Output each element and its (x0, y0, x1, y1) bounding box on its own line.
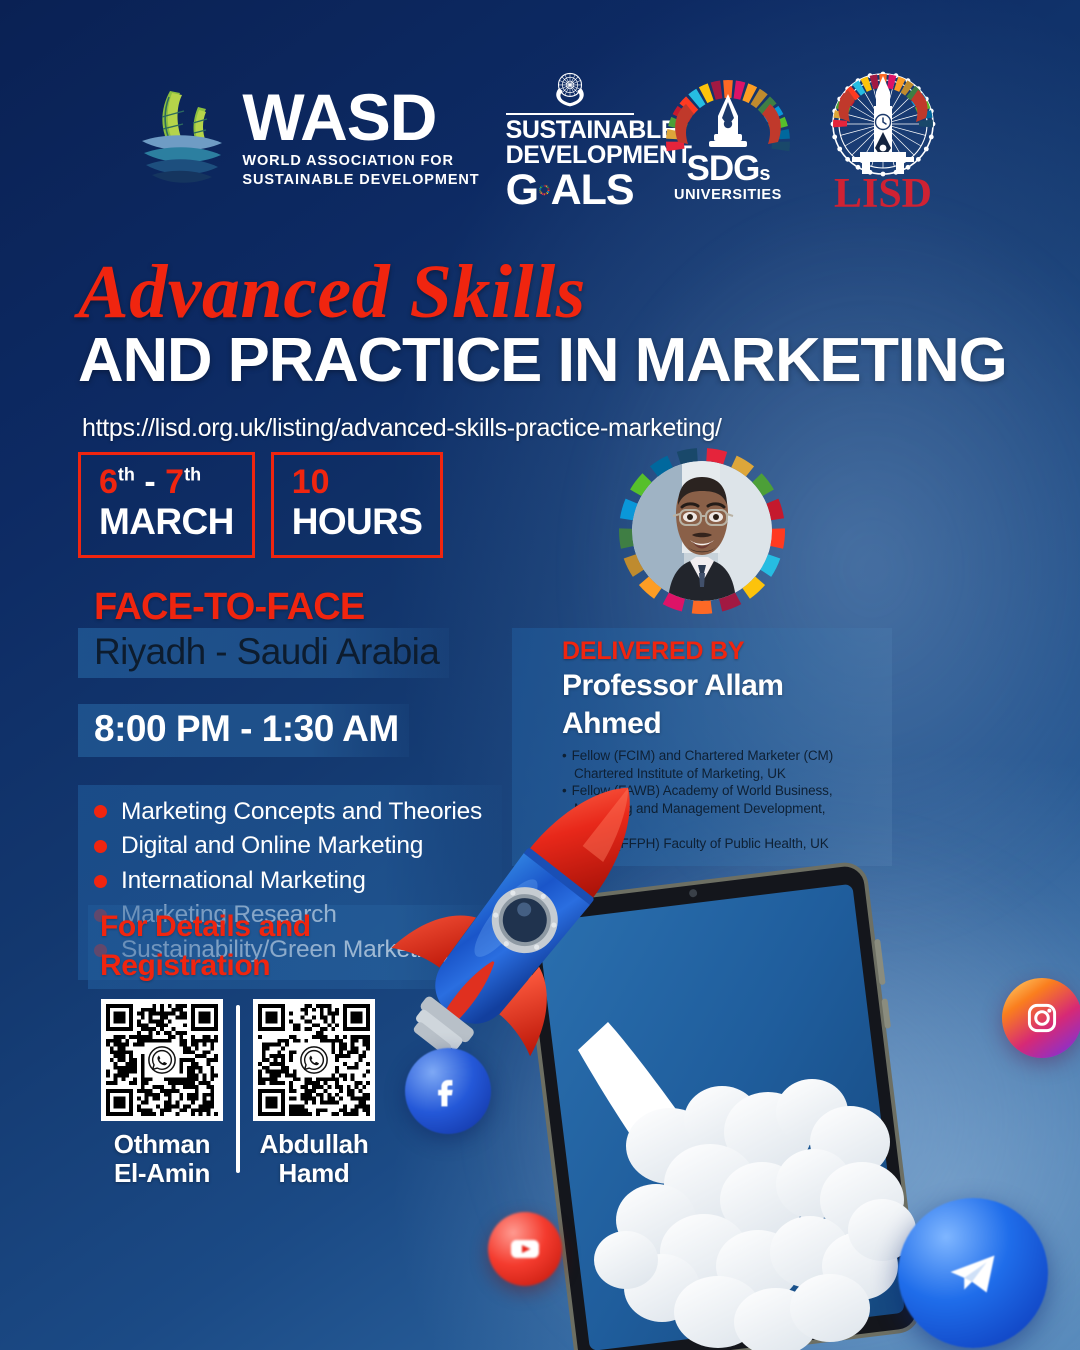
date-day-from-suffix: th (118, 465, 135, 485)
event-time: 8:00 PM - 1:30 AM (78, 704, 409, 756)
title-main-line: AND PRACTICE IN MARKETING (78, 330, 1016, 392)
sdg-goals-post: ALS (551, 169, 634, 212)
whatsapp-icon (145, 1043, 179, 1077)
date-day-to: 7 (165, 463, 184, 501)
svg-text:SDGs: SDGs (686, 149, 770, 188)
delivered-by-label: DELIVERED BY (562, 636, 876, 666)
instagram-icon (1002, 978, 1080, 1058)
sdgs-universities-logo: SDGs UNIVERSITIES (660, 68, 796, 208)
sustainable-development-goals-logo: SUSTAINABLE DEVELOPMENT G ["#e5243b","#d… (506, 65, 634, 212)
sdg-ring-icon (619, 448, 785, 614)
whatsapp-icon (297, 1043, 331, 1077)
avatar (619, 448, 785, 614)
bullet-dot-icon (94, 875, 107, 888)
sdgs-universities-pen-icon: SDGs UNIVERSITIES (660, 68, 796, 208)
logo-bar: WASD WORLD ASSOCIATION FOR SUSTAINABLE D… (0, 62, 1080, 214)
title-block: Advanced Skills AND PRACTICE IN MARKETIN… (78, 258, 998, 443)
date-separator: - (144, 463, 155, 501)
bullet-dot-icon (94, 805, 107, 818)
sdg-line2: DEVELOPMENT (506, 143, 634, 168)
title-script-line: Advanced Skills (78, 258, 998, 328)
youtube-icon (488, 1212, 562, 1286)
hours-unit: HOURS (292, 502, 423, 543)
contact-first-name: Othman (88, 1130, 236, 1159)
sdg-divider-rule (506, 113, 634, 115)
sdg-goals-pre: G (506, 169, 538, 212)
imagery-group (370, 760, 1080, 1350)
hours-number: 10 (292, 465, 423, 499)
event-url[interactable]: https://lisd.org.uk/listing/advanced-ski… (82, 414, 998, 443)
contact-othman-el-amin[interactable]: Othman El-Amin (88, 999, 236, 1188)
poster-canvas: WASD WORLD ASSOCIATION FOR SUSTAINABLE D… (0, 0, 1080, 1350)
contact-last-name: Hamd (240, 1159, 388, 1188)
wasd-subtitle-line1: WORLD ASSOCIATION FOR (242, 152, 479, 171)
date-month: MARCH (99, 502, 234, 543)
wasd-subtitle-line2: SUSTAINABLE DEVELOPMENT (242, 171, 479, 190)
lisd-logo: LISD (822, 62, 944, 214)
wasd-sailboat-leaf-icon (136, 83, 228, 193)
contact-abdullah-hamd[interactable]: Abdullah Hamd (240, 999, 388, 1188)
sdg-line1: SUSTAINABLE (506, 118, 634, 143)
sdg-goals-word: G ["#e5243b","#dda63a","#4c9f38","#c5192… (506, 169, 634, 212)
wasd-wordmark: WASD WORLD ASSOCIATION FOR SUSTAINABLE D… (242, 87, 479, 190)
bullet-dot-icon (94, 840, 107, 853)
telegram-icon (898, 1198, 1048, 1348)
svg-text:UNIVERSITIES: UNIVERSITIES (674, 187, 782, 203)
speaker-name: Professor Allam Ahmed (562, 667, 876, 742)
delivery-mode: FACE-TO-FACE (94, 588, 508, 628)
qr-code-othman[interactable] (101, 999, 223, 1121)
contact-first-name: Abdullah (240, 1130, 388, 1159)
svg-text:LISD: LISD (834, 171, 932, 214)
date-hours-boxes: 6th - 7th MARCH 10 HOURS (78, 452, 508, 558)
lisd-ferris-wheel-clocktower-icon: LISD (822, 62, 944, 214)
wasd-name: WASD (242, 87, 479, 148)
location-band: Riyadh - Saudi Arabia (78, 628, 449, 679)
contact-last-name: El-Amin (88, 1159, 236, 1188)
hours-box: 10 HOURS (271, 452, 444, 558)
date-day-from: 6 (99, 463, 118, 501)
topic-label: International Marketing (121, 867, 366, 896)
date-box: 6th - 7th MARCH (78, 452, 255, 558)
date-day-to-suffix: th (184, 465, 201, 485)
un-emblem-icon (547, 65, 593, 111)
wasd-logo: WASD WORLD ASSOCIATION FOR SUSTAINABLE D… (136, 83, 479, 193)
sdg-color-wheel-icon: ["#e5243b","#dda63a","#4c9f38","#c5192d"… (539, 171, 550, 209)
date-days: 6th - 7th (99, 465, 234, 499)
qr-code-abdullah[interactable] (253, 999, 375, 1121)
facebook-icon (405, 1048, 491, 1134)
event-location: Riyadh - Saudi Arabia (94, 631, 439, 674)
